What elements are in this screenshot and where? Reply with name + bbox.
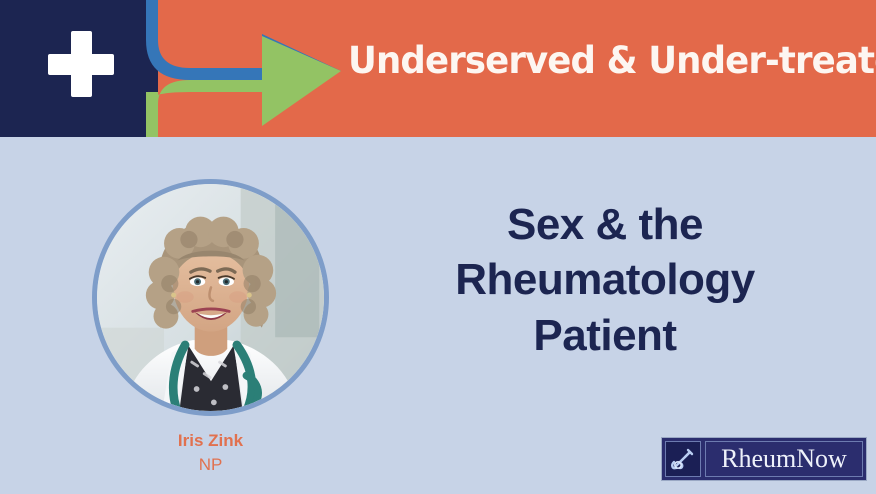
title-line-1: Sex & the <box>380 197 830 252</box>
presentation-slide: Underserved & Under-treated <box>0 0 876 494</box>
green-curved-arrow <box>146 36 341 137</box>
speaker-portrait-photo <box>97 184 324 411</box>
banner-title: Underserved & Under-treated <box>348 42 847 79</box>
green-arrow-stem <box>146 92 158 137</box>
rheumnow-bone-icon <box>665 441 701 477</box>
title-line-3: Patient <box>380 308 830 363</box>
title-line-2: Rheumatology <box>380 252 830 307</box>
page-title: Sex & the Rheumatology Patient <box>380 197 830 363</box>
slide-banner: Underserved & Under-treated <box>0 0 876 137</box>
speaker-name: Iris Zink <box>92 431 329 451</box>
rheumnow-logo-text: RheumNow <box>705 441 863 477</box>
rheumnow-logo[interactable]: RheumNow <box>661 437 867 481</box>
slide-body: Iris Zink NP Sex & the Rheumatology Pati… <box>0 137 876 494</box>
speaker-credential: NP <box>92 455 329 475</box>
speaker-portrait <box>92 179 329 416</box>
